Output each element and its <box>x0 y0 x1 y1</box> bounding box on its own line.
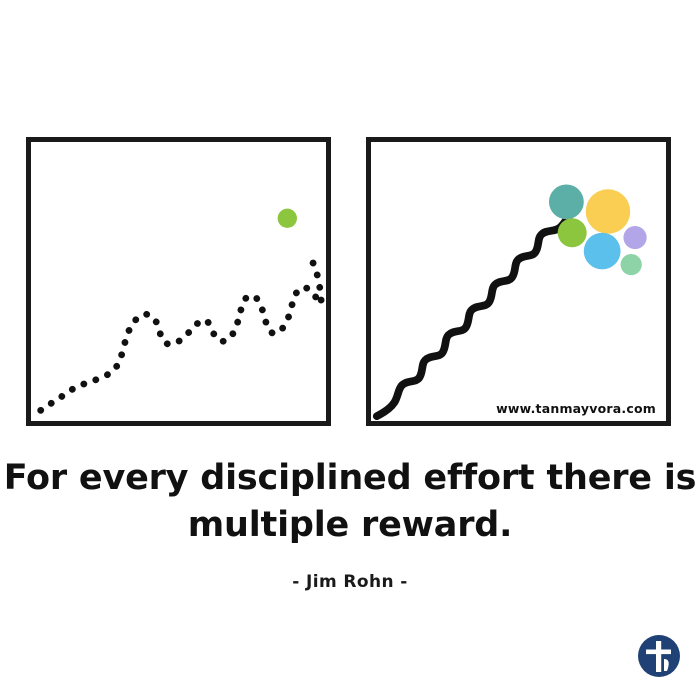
dotted-effort-path-svg <box>31 142 326 421</box>
quote-graphic-canvas: www.tanmayvora.com For every disciplined… <box>0 0 700 700</box>
green-circle <box>558 218 587 247</box>
wavy-arrow-path-svg <box>371 142 666 421</box>
wavy-growth-line <box>377 206 576 416</box>
green-reward-dot <box>278 209 297 228</box>
disciplined-effort-panel <box>26 137 331 426</box>
cross-circle-logo <box>634 631 684 681</box>
watermark-text: www.tanmayvora.com <box>496 401 656 416</box>
dotted-path <box>41 260 321 411</box>
quote-line-1: For every disciplined effort there is <box>0 455 700 502</box>
yellow-circle <box>586 189 630 233</box>
teal-circle <box>549 184 584 219</box>
blue-circle <box>584 233 621 270</box>
logo-cross-vertical <box>656 641 661 672</box>
mint-circle <box>621 254 642 275</box>
multiple-reward-panel: www.tanmayvora.com <box>366 137 671 426</box>
purple-circle <box>623 226 646 249</box>
quote-text: For every disciplined effort there is mu… <box>0 455 700 548</box>
logo-cross-horizontal <box>646 650 671 655</box>
quote-line-2: multiple reward. <box>0 502 700 549</box>
quote-attribution: - Jim Rohn - <box>0 572 700 592</box>
